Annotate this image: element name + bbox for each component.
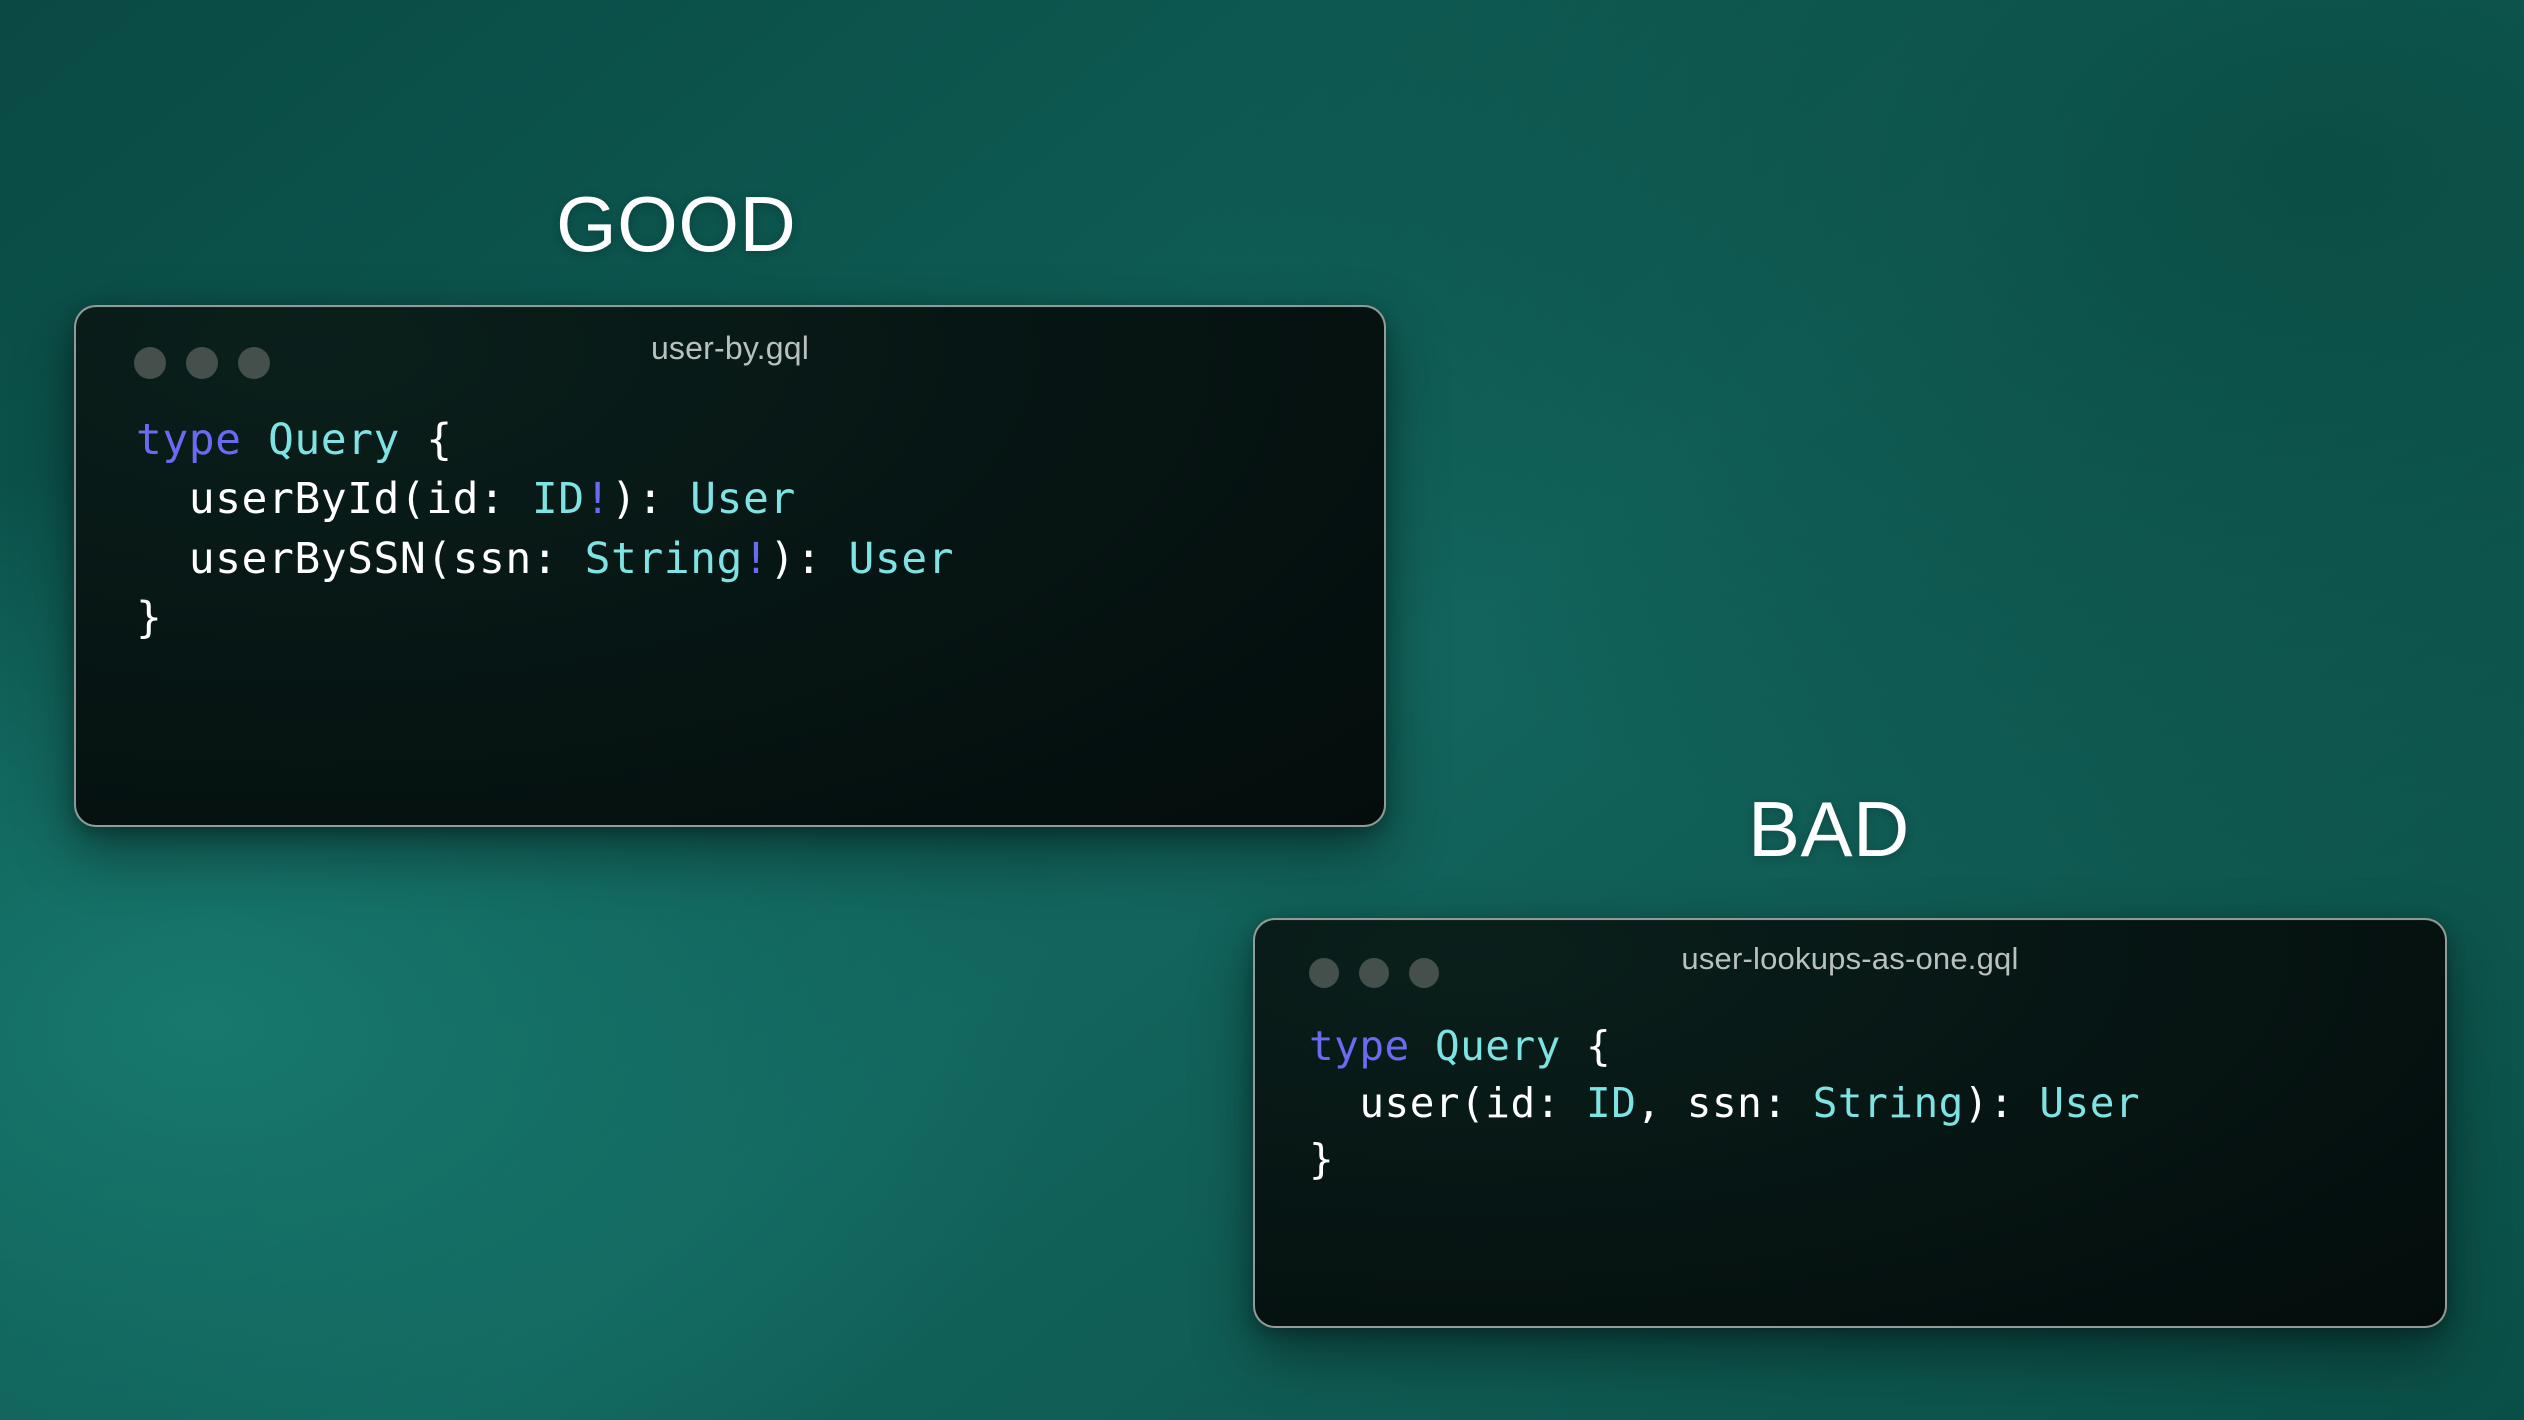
code-token: user(id: bbox=[1309, 1079, 1586, 1127]
code-token: User bbox=[849, 534, 955, 584]
code-token: String bbox=[1813, 1079, 1964, 1127]
code-line: type Query { bbox=[1309, 1018, 2445, 1075]
titlebar: user-by.gql bbox=[76, 307, 1384, 389]
code-token: User bbox=[690, 474, 796, 524]
code-token: type bbox=[136, 415, 242, 465]
code-window-good: user-by.gql type Query { userById(id: ID… bbox=[74, 305, 1386, 827]
code-token: ! bbox=[585, 474, 611, 524]
code-token: userBySSN(ssn: bbox=[136, 534, 585, 584]
code-token: Query bbox=[1435, 1022, 1561, 1070]
code-token: } bbox=[136, 593, 162, 643]
close-dot-icon[interactable] bbox=[134, 347, 166, 379]
code-token: { bbox=[1561, 1022, 1611, 1070]
code-token bbox=[242, 415, 268, 465]
code-token: { bbox=[400, 415, 453, 465]
code-window-bad: user-lookups-as-one.gql type Query { use… bbox=[1253, 918, 2447, 1328]
code-line: userBySSN(ssn: String!): User bbox=[136, 530, 1384, 589]
code-token: , ssn: bbox=[1636, 1079, 1812, 1127]
code-block: type Query { user(id: ID, ssn: String): … bbox=[1255, 998, 2445, 1188]
traffic-lights bbox=[134, 347, 270, 379]
code-token: ): bbox=[1964, 1079, 2040, 1127]
minimize-dot-icon[interactable] bbox=[1359, 958, 1389, 988]
code-token: ID bbox=[1586, 1079, 1636, 1127]
close-dot-icon[interactable] bbox=[1309, 958, 1339, 988]
maximize-dot-icon[interactable] bbox=[1409, 958, 1439, 988]
code-line: } bbox=[1309, 1131, 2445, 1188]
code-token: ): bbox=[611, 474, 690, 524]
code-token: userById(id: bbox=[136, 474, 532, 524]
code-token: } bbox=[1309, 1135, 1334, 1183]
code-token: String bbox=[585, 534, 743, 584]
code-token bbox=[1410, 1022, 1435, 1070]
maximize-dot-icon[interactable] bbox=[238, 347, 270, 379]
minimize-dot-icon[interactable] bbox=[186, 347, 218, 379]
code-token: ): bbox=[769, 534, 848, 584]
code-line: user(id: ID, ssn: String): User bbox=[1309, 1075, 2445, 1132]
code-token: type bbox=[1309, 1022, 1410, 1070]
titlebar: user-lookups-as-one.gql bbox=[1255, 920, 2445, 998]
label-good: GOOD bbox=[556, 185, 796, 263]
label-bad: BAD bbox=[1748, 790, 1910, 868]
code-line: } bbox=[136, 589, 1384, 648]
code-line: userById(id: ID!): User bbox=[136, 470, 1384, 529]
window-title: user-by.gql bbox=[76, 330, 1384, 367]
code-token: User bbox=[2039, 1079, 2140, 1127]
code-token: ID bbox=[532, 474, 585, 524]
traffic-lights bbox=[1309, 958, 1439, 988]
code-token: ! bbox=[743, 534, 769, 584]
code-token: Query bbox=[268, 415, 400, 465]
code-block: type Query { userById(id: ID!): User use… bbox=[76, 389, 1384, 648]
code-line: type Query { bbox=[136, 411, 1384, 470]
